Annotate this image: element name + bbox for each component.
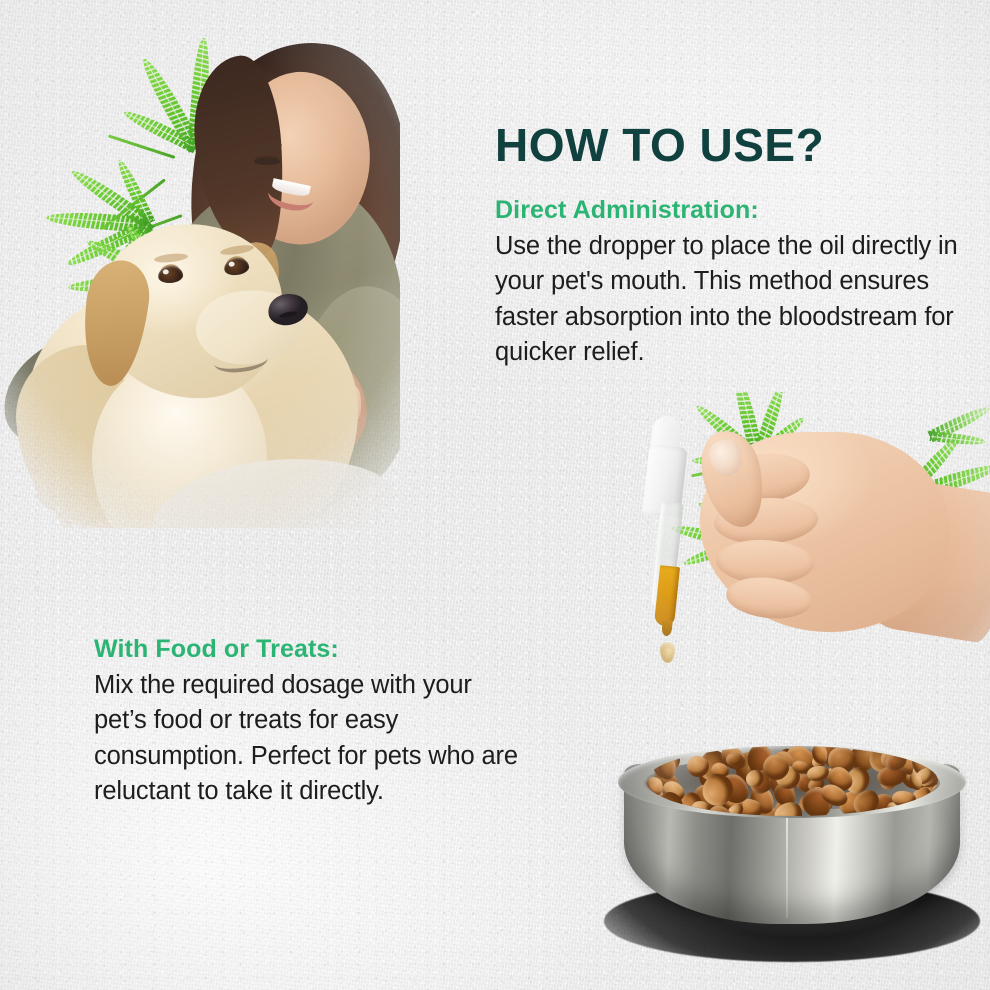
poster-canvas: HOW TO USE? Direct Administration: Use t…	[0, 0, 990, 990]
section-with-food-or-treats: With Food or Treats: Mix the required do…	[94, 635, 524, 810]
body-direct-administration: Use the dropper to place the oil directl…	[495, 229, 990, 371]
kibble-pile	[646, 746, 938, 816]
subhead-direct-administration: Direct Administration:	[495, 196, 990, 225]
woman-eye	[254, 158, 280, 165]
hand-dropper-photo	[600, 392, 990, 722]
oil-droplet	[660, 642, 675, 663]
body-with-food-or-treats: Mix the required dosage with your pet’s …	[94, 668, 524, 810]
page-title: HOW TO USE?	[495, 122, 824, 168]
dropper-tip	[661, 620, 673, 637]
section-direct-administration: Direct Administration: Use the dropper t…	[495, 196, 990, 371]
dog-food-bowl-photo	[600, 740, 990, 990]
woman-dog-dropper-photo	[0, 28, 400, 528]
subhead-with-food-or-treats: With Food or Treats:	[94, 635, 524, 664]
